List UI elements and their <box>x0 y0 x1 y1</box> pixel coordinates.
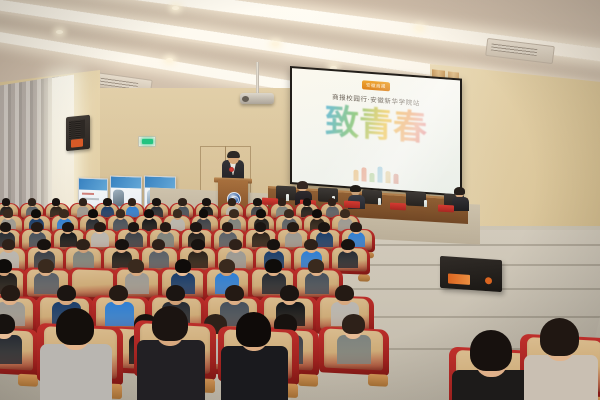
audience-member <box>0 314 15 367</box>
downlight-icon <box>172 6 179 10</box>
hair <box>297 181 308 189</box>
person-torso <box>305 273 329 294</box>
audience-member <box>109 285 128 329</box>
person-hair <box>284 209 294 218</box>
person-hair <box>202 198 211 205</box>
downlight-icon <box>56 30 63 34</box>
person-hair <box>0 222 11 232</box>
projector-lens-icon <box>242 96 249 102</box>
person-torso <box>524 355 598 400</box>
person-hair <box>103 198 112 205</box>
person-hair <box>166 285 185 302</box>
person-hair <box>173 209 183 218</box>
person-hair <box>318 222 330 232</box>
person-hair <box>109 285 128 302</box>
person-hair <box>287 222 299 232</box>
downlight-icon <box>416 26 423 30</box>
audience-member <box>318 222 330 249</box>
person-hair <box>2 198 11 205</box>
person-hair <box>350 222 362 232</box>
student-with-backpack <box>470 330 512 400</box>
person-hair <box>470 330 512 371</box>
person-hair <box>341 239 355 251</box>
audience-member <box>341 239 355 270</box>
person-hair <box>128 222 140 232</box>
audience-member <box>236 312 271 392</box>
person-torso <box>40 344 111 400</box>
projector-mount-pole <box>256 62 259 95</box>
person-hair <box>62 222 74 232</box>
audience-seating <box>0 190 600 400</box>
person-hair <box>267 239 281 251</box>
person-hair <box>303 198 312 205</box>
person-hair <box>3 209 13 218</box>
person-hair <box>79 198 88 205</box>
audience-member <box>191 239 205 270</box>
person-hair <box>340 209 350 218</box>
person-hair <box>280 285 299 302</box>
projection-screen: 安徽商报 商报校园行·安徽新华学院站 致青春 <box>290 66 462 197</box>
person-torso <box>221 346 288 400</box>
seat-armrest <box>298 374 318 387</box>
person-hair <box>342 314 365 334</box>
person-hair <box>152 239 166 251</box>
banner-header <box>79 179 107 191</box>
audience-member <box>152 306 188 388</box>
person-hair <box>278 198 287 205</box>
person-hair <box>175 259 191 273</box>
person-hair <box>335 285 354 302</box>
student-taking-notes <box>56 308 94 393</box>
person-torso <box>0 335 22 365</box>
downlight-icon <box>272 42 279 46</box>
person-hair <box>116 209 126 218</box>
person-hair <box>225 285 244 302</box>
person-hair <box>190 222 202 232</box>
person-hair <box>178 198 187 205</box>
audience-member <box>308 259 324 296</box>
person-hair <box>222 222 234 232</box>
person-hair <box>59 209 69 218</box>
speaker-brand-badge <box>71 138 83 147</box>
presenter-hair <box>227 151 240 158</box>
person-hair <box>144 209 154 218</box>
audience-member <box>94 222 106 249</box>
seat-armrest <box>18 374 38 387</box>
audience-member <box>128 222 140 249</box>
person-torso <box>105 302 134 327</box>
audience-member <box>38 259 54 296</box>
person-hair <box>255 222 267 232</box>
audience-member <box>152 239 166 270</box>
person-torso <box>285 232 302 247</box>
seat-armrest <box>368 374 388 387</box>
person-hair <box>199 209 209 218</box>
person-hair <box>56 308 94 345</box>
person-hair <box>253 198 262 205</box>
person-hair <box>265 259 281 273</box>
person-hair <box>312 209 322 218</box>
person-hair <box>128 198 137 205</box>
person-hair <box>540 318 579 356</box>
person-hair <box>57 285 76 302</box>
audience-member <box>62 222 74 249</box>
projected-slide: 安徽商报 商报校园行·安徽新华学院站 致青春 <box>292 68 460 194</box>
person-hair <box>308 259 324 273</box>
person-torso <box>149 251 169 269</box>
person-hair <box>2 239 16 251</box>
screen-glare <box>292 68 460 194</box>
person-hair <box>94 222 106 232</box>
person-hair <box>229 209 239 218</box>
person-hair <box>1 285 20 302</box>
person-torso <box>338 251 358 269</box>
audience-member <box>128 259 144 296</box>
person-torso <box>73 251 93 269</box>
person-hair <box>152 306 188 341</box>
person-hair <box>228 198 237 205</box>
seat-armrest <box>358 274 370 281</box>
presenter-boutonniere <box>229 167 234 172</box>
audience-member <box>255 222 267 249</box>
emergency-exit-sign <box>138 136 156 147</box>
downlight-icon <box>166 58 173 62</box>
person-torso <box>91 232 108 247</box>
person-torso <box>137 340 205 400</box>
person-hair <box>191 239 205 251</box>
person-torso <box>316 232 333 247</box>
person-hair <box>37 239 51 251</box>
person-hair <box>0 314 15 334</box>
audience-member <box>540 318 579 400</box>
auditorium-photo: 安徽商报 商报校园行·安徽新华学院站 致青春 <box>0 0 600 400</box>
person-hair <box>219 259 235 273</box>
person-hair <box>128 259 144 273</box>
person-hair <box>31 209 41 218</box>
audience-member <box>76 239 90 270</box>
person-hair <box>304 239 318 251</box>
person-hair <box>0 259 12 273</box>
person-torso <box>337 335 371 365</box>
audience-member <box>342 314 365 367</box>
person-hair <box>256 209 266 218</box>
seat-cushion <box>72 269 114 298</box>
person-hair <box>52 198 61 205</box>
person-hair <box>236 312 271 347</box>
person-hair <box>31 222 43 232</box>
exit-sign-icon <box>142 139 153 144</box>
speaker-grill-icon <box>69 119 85 139</box>
banner-header <box>111 176 141 188</box>
person-hair <box>160 222 172 232</box>
person-torso <box>60 232 77 247</box>
person-hair <box>38 259 54 273</box>
person-hair <box>88 209 98 218</box>
audience-member <box>265 259 281 296</box>
person-hair <box>76 239 90 251</box>
person-hair <box>115 239 129 251</box>
person-hair <box>28 198 37 205</box>
audience-member <box>115 239 129 270</box>
audience-member <box>287 222 299 249</box>
person-hair <box>328 198 337 205</box>
person-torso <box>188 251 208 269</box>
person-torso <box>34 273 58 294</box>
person-hair <box>152 198 161 205</box>
person-hair <box>229 239 243 251</box>
wall-mounted-speaker <box>66 115 90 152</box>
